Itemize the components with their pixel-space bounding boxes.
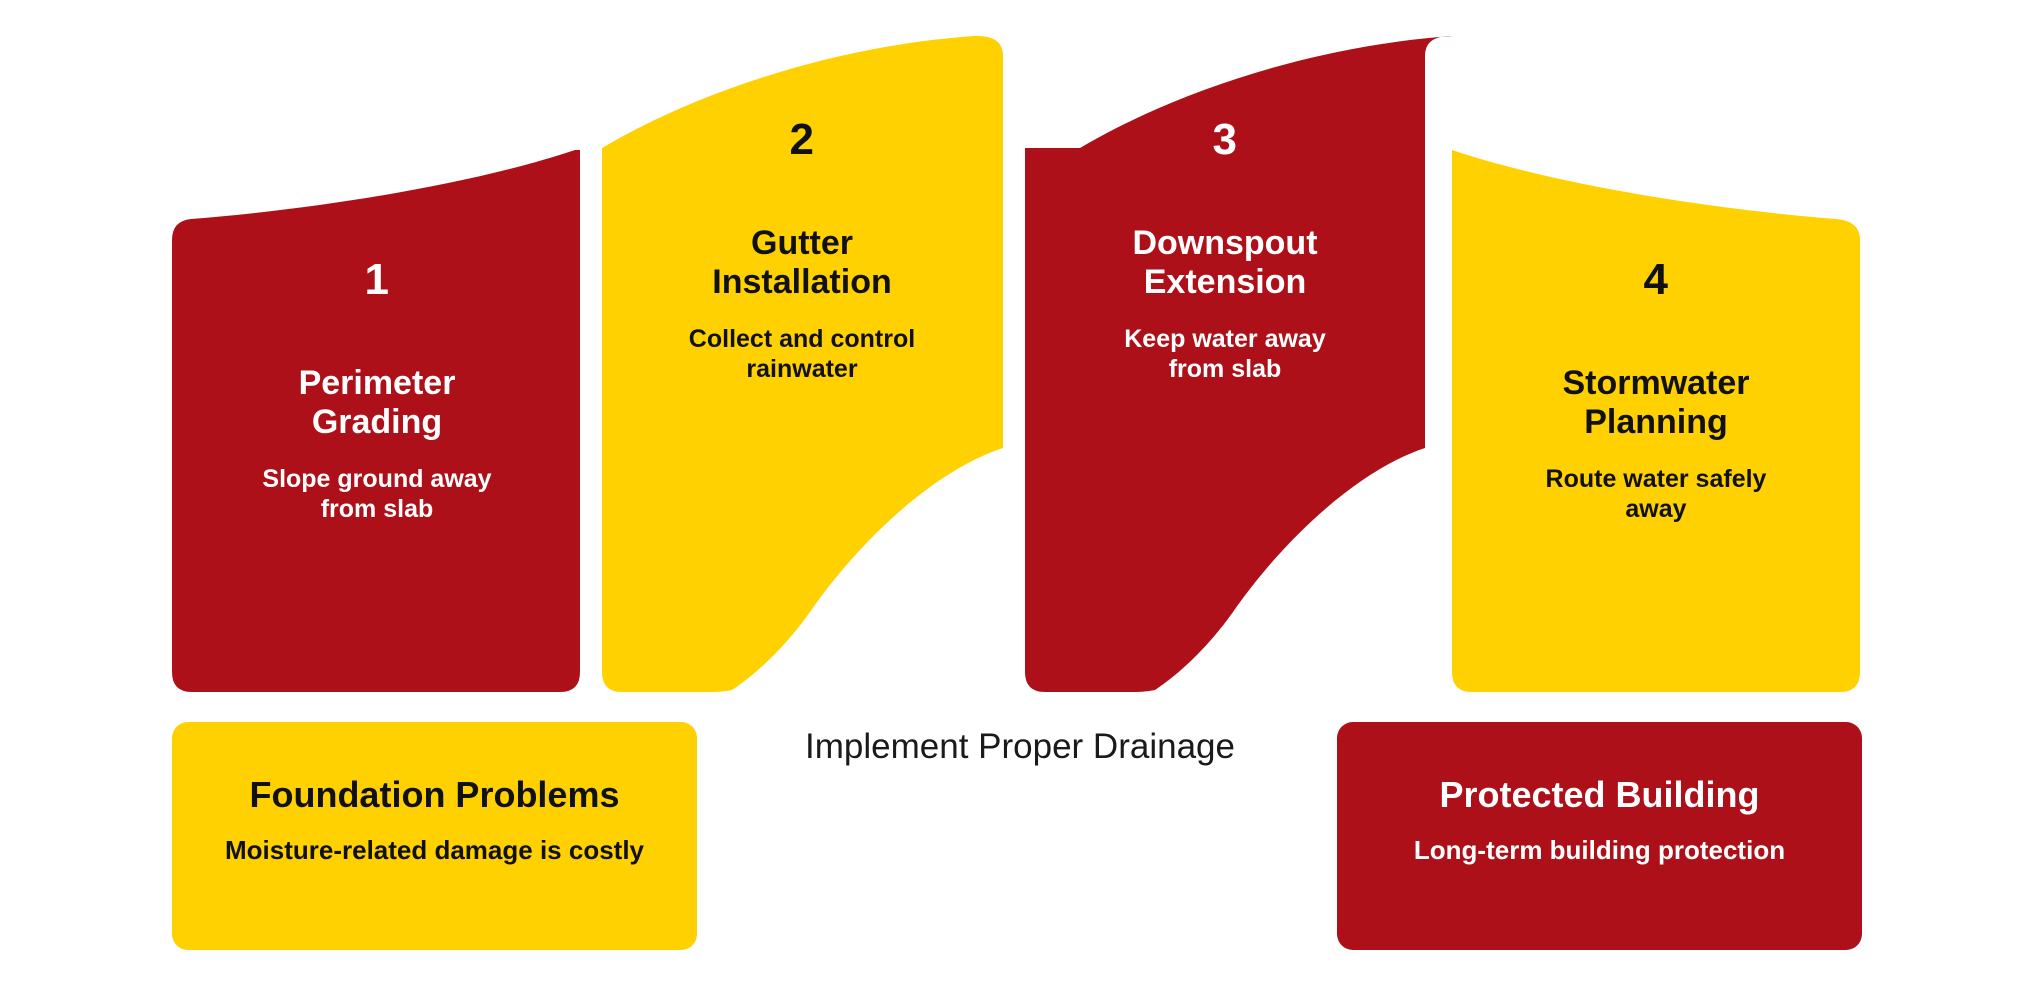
outcome-box-left[interactable] — [172, 722, 697, 950]
step-shape-3[interactable] — [1025, 36, 1453, 692]
step-shape-2[interactable] — [602, 36, 1003, 692]
step-shape-1[interactable] — [172, 150, 580, 692]
step-shape-4[interactable] — [1452, 150, 1860, 692]
arch-shapes — [0, 0, 2040, 1003]
diagram-canvas: 1 Perimeter Grading Slope ground away fr… — [0, 0, 2040, 1003]
outcome-box-right[interactable] — [1337, 722, 1862, 950]
